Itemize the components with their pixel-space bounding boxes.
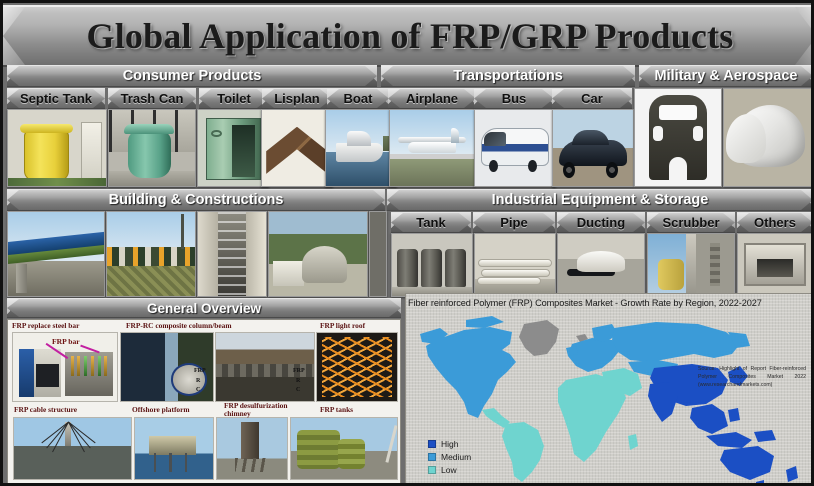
overview-note-frp-right: FRP [293, 368, 305, 374]
photo-bus [474, 109, 556, 187]
subcategory-car[interactable]: Car [552, 88, 632, 109]
subcategory-septic-tank[interactable]: Septic Tank [7, 88, 105, 109]
category-label: Military & Aerospace [655, 68, 798, 84]
overview-photo-offshore-platform [134, 417, 214, 480]
subcategory-label: Trash Can [121, 91, 184, 106]
subcategory-boat[interactable]: Boat [327, 88, 389, 109]
subcategory-lisplan[interactable]: Lisplan [262, 88, 332, 109]
map-region-png [754, 430, 776, 442]
photo-bridge-deck-construction [106, 211, 196, 297]
map-region-greenland [519, 320, 559, 356]
subcategory-label: Pipe [500, 215, 527, 230]
map-region-canada-islands [466, 316, 504, 328]
overview-label-frp-desulfurization-chimney: FRP desulfurization chimney [224, 402, 287, 418]
map-region-madagascar [628, 434, 638, 450]
photo-industrial-pipe [474, 233, 556, 297]
overview-label-frp-light-roof: FRP light roof [320, 322, 365, 330]
category-banner-transportations[interactable]: Transportations [381, 65, 635, 87]
map-region-philippines [728, 408, 740, 422]
photo-car [552, 109, 634, 187]
subcategory-label: Tank [416, 215, 445, 230]
map-region-australia [720, 446, 774, 480]
overview-photo-frp-light-roof [316, 332, 398, 402]
category-label: Consumer Products [123, 68, 262, 84]
overview-label-frp-replace-steel-bar: FRP replace steel bar [12, 322, 79, 330]
overview-note-r-right: R [296, 378, 300, 384]
photo-frp-bridge [7, 211, 105, 297]
map-region-indonesia [706, 432, 752, 448]
map-region-new-zealand [786, 466, 798, 482]
subcategory-scrubber[interactable]: Scrubber [647, 212, 735, 233]
photo-industrial-ducting [557, 233, 645, 297]
legend-label-low: Low [441, 465, 457, 475]
photo-military-armor-plate [634, 88, 722, 187]
category-banner-consumer-products[interactable]: Consumer Products [7, 65, 377, 87]
subcategory-others[interactable]: Others [737, 212, 813, 233]
photo-building-extra [369, 211, 387, 297]
subcategory-label: Lisplan [274, 91, 320, 106]
map-region-tasmania [756, 480, 764, 485]
photo-boat [325, 109, 397, 187]
photo-airplane [389, 109, 475, 187]
photo-frp-dome-building [268, 211, 368, 297]
subcategory-label: Septic Tank [20, 91, 92, 106]
photo-industrial-scrubber [647, 233, 735, 297]
legend-swatch-medium [428, 453, 436, 461]
overview-label-frp-tanks: FRP tanks [320, 406, 353, 414]
subcategory-pipe[interactable]: Pipe [473, 212, 555, 233]
legend-swatch-high [428, 440, 436, 448]
map-region-europe [568, 338, 620, 372]
overview-label-frp-rc-composite: FRP-RC composite column/beam [126, 322, 232, 330]
category-label: Building & Constructions [109, 192, 284, 208]
overview-photo-frp-tanks [290, 417, 398, 480]
photo-truss-structure [197, 211, 267, 297]
photo-toilet [197, 109, 269, 187]
subcategory-tank[interactable]: Tank [391, 212, 471, 233]
category-label: General Overview [147, 301, 261, 316]
poster-title-banner: Global Application of FRP/GRP Products [3, 5, 814, 67]
category-banner-general-overview[interactable]: General Overview [7, 298, 401, 318]
map-region-russia [612, 322, 740, 362]
legend-item-medium[interactable]: Medium [428, 452, 471, 462]
subcategory-label: Car [581, 91, 603, 106]
legend-item-low[interactable]: Low [428, 465, 471, 475]
photo-trash-can [108, 109, 196, 187]
overview-photo-frp-cable-structure [13, 417, 132, 480]
map-region-south-america [502, 422, 544, 482]
subcategory-label: Others [754, 215, 796, 230]
overview-note-r-left: R [196, 378, 200, 384]
category-banner-building-constructions[interactable]: Building & Constructions [7, 189, 385, 211]
subcategory-airplane[interactable]: Airplane [388, 88, 476, 109]
legend-swatch-low [428, 466, 436, 474]
subcategory-label: Boat [344, 91, 373, 106]
map-source-note: Source: Highlight of Report Fiber-reinfo… [698, 366, 806, 389]
page-title: Global Application of FRP/GRP Products [87, 15, 734, 57]
photo-lisplan [261, 109, 333, 187]
map-panel: Fiber reinforced Polymer (FRP) Composite… [405, 293, 813, 485]
category-label: Industrial Equipment & Storage [492, 192, 709, 208]
category-label: Transportations [453, 68, 563, 84]
photo-industrial-tank [391, 233, 473, 297]
poster-root: Global Application of FRP/GRP Products C… [0, 0, 814, 486]
legend-item-high[interactable]: High [428, 439, 471, 449]
subcategory-label: Toilet [217, 91, 251, 106]
subcategory-label: Airplane [406, 91, 458, 106]
overview-label-offshore-platform: Offshore platform [132, 406, 190, 414]
photo-industrial-others [737, 233, 813, 297]
category-banner-military-aerospace[interactable]: Military & Aerospace [639, 65, 813, 87]
map-region-africa [558, 374, 626, 462]
legend-label-medium: Medium [441, 452, 471, 462]
subcategory-trash-can[interactable]: Trash Can [108, 88, 196, 109]
map-legend: High Medium Low [428, 439, 471, 478]
legend-label-high: High [441, 439, 458, 449]
overview-note-frp-left: FRP [194, 368, 206, 374]
map-region-southeast-asia [690, 404, 728, 434]
overview-annotation-frp-bar: FRP bar [52, 338, 80, 346]
general-overview-panel: FRP replace steel bar FRP-RC composite c… [7, 319, 401, 485]
overview-note-c-left: C [196, 387, 200, 393]
overview-label-frp-cable-structure: FRP cable structure [14, 406, 77, 414]
subcategory-label: Scrubber [662, 215, 719, 230]
category-banner-industrial-equipment-storage[interactable]: Industrial Equipment & Storage [387, 189, 813, 211]
overview-photo-frp-desulfurization-chimney [216, 417, 288, 480]
photo-septic-tank [7, 109, 107, 187]
subcategory-label: Ducting [577, 215, 625, 230]
subcategory-bus[interactable]: Bus [474, 88, 554, 109]
photo-aerospace-helmet [723, 88, 813, 187]
subcategory-label: Bus [502, 91, 527, 106]
overview-note-c-right: C [296, 387, 300, 393]
subcategory-ducting[interactable]: Ducting [557, 212, 645, 233]
subcategory-toilet[interactable]: Toilet [199, 88, 269, 109]
map-title: Fiber reinforced Polymer (FRP) Composite… [408, 296, 810, 311]
